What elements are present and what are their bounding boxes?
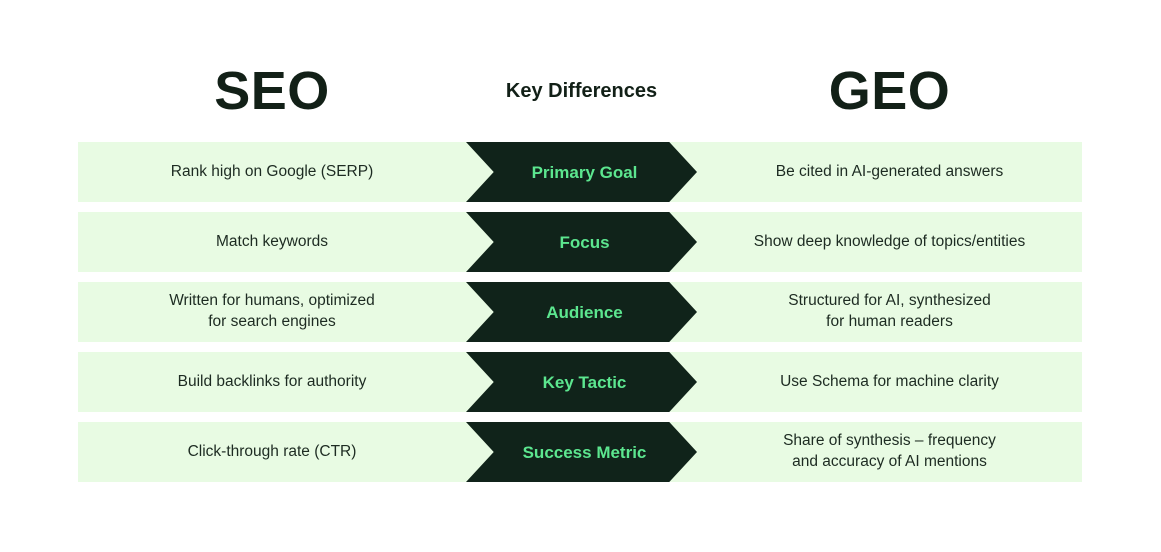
seo-cell: Written for humans, optimizedfor search … [78,282,466,342]
difference-badge: Audience [466,282,697,342]
header-seo-label: SEO [214,64,330,118]
comparison-row: Click-through rate (CTR) Success Metric … [78,422,1082,482]
geo-cell: Structured for AI, synthesizedfor human … [697,282,1082,342]
difference-badge-label: Audience [540,304,623,321]
difference-badge-label: Key Tactic [537,374,627,391]
seo-cell: Rank high on Google (SERP) [78,142,466,202]
comparison-rows: Rank high on Google (SERP) Primary Goal … [78,142,1082,482]
header-geo-label: GEO [829,64,951,118]
comparison-diagram: SEO Key Differences GEO Rank high on Goo… [0,0,1161,552]
geo-cell: Share of synthesis – frequencyand accura… [697,422,1082,482]
difference-badge-label: Focus [553,234,609,251]
seo-cell: Build backlinks for authority [78,352,466,412]
comparison-row: Match keywords Focus Show deep knowledge… [78,212,1082,272]
difference-badge-label: Primary Goal [526,164,638,181]
header-key-differences: Key Differences [466,52,697,130]
comparison-row: Written for humans, optimizedfor search … [78,282,1082,342]
comparison-row: Rank high on Google (SERP) Primary Goal … [78,142,1082,202]
difference-badge: Key Tactic [466,352,697,412]
geo-cell: Be cited in AI-generated answers [697,142,1082,202]
difference-badge: Primary Goal [466,142,697,202]
geo-cell: Show deep knowledge of topics/entities [697,212,1082,272]
header-geo: GEO [697,52,1082,130]
header-key-differences-label: Key Differences [506,81,657,101]
seo-cell: Match keywords [78,212,466,272]
geo-cell: Use Schema for machine clarity [697,352,1082,412]
column-headers: SEO Key Differences GEO [78,52,1082,130]
difference-badge: Focus [466,212,697,272]
comparison-row: Build backlinks for authority Key Tactic… [78,352,1082,412]
seo-cell: Click-through rate (CTR) [78,422,466,482]
difference-badge: Success Metric [466,422,697,482]
header-seo: SEO [78,52,466,130]
difference-badge-label: Success Metric [517,444,647,461]
